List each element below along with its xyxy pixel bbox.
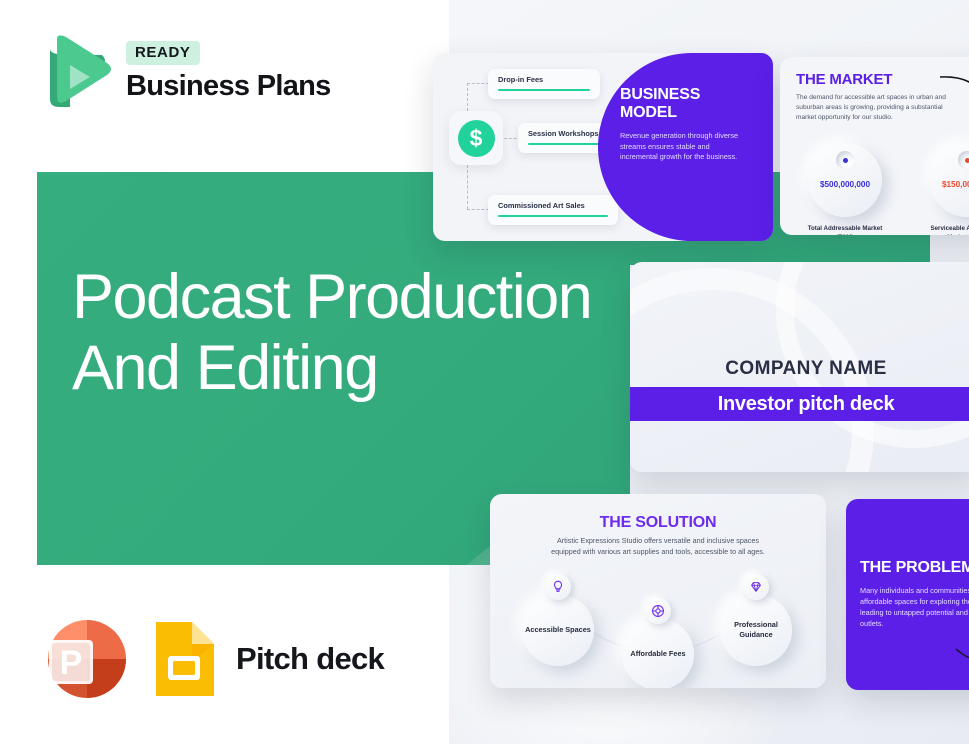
dollar-icon: $ xyxy=(449,111,503,165)
slide-solution[interactable]: THE SOLUTION Artistic Expressions Studio… xyxy=(490,494,826,688)
connector-line xyxy=(467,83,489,84)
revenue-stream-3-label: Commissioned Art Sales xyxy=(498,201,608,210)
brand-name: Business Plans xyxy=(126,70,331,103)
footer-label: Pitch deck xyxy=(236,641,384,677)
format-footer: P Pitch deck xyxy=(40,612,384,706)
problem-squiggle-icon xyxy=(954,645,969,675)
market-metric-2-caption: Serviceable Addressable Market (SAM) xyxy=(921,225,969,235)
slide-company-title[interactable]: COMPANY NAME Investor pitch deck xyxy=(630,262,969,472)
page-title: Podcast Production And Editing xyxy=(72,262,592,404)
solution-node-1-label: Accessible Spaces xyxy=(525,625,591,635)
lightbulb-icon xyxy=(545,574,571,600)
solution-node-3-label: Professional Guidance xyxy=(720,620,792,640)
revenue-stream-3: Commissioned Art Sales xyxy=(488,195,618,225)
powerpoint-icon: P xyxy=(40,612,134,706)
metric-dot-icon xyxy=(958,151,969,169)
business-model-description: Revenue generation through diverse strea… xyxy=(620,131,740,163)
business-model-title: BUSINESS MODEL xyxy=(620,86,759,122)
slide-business-model[interactable]: $ Drop-in Fees Session Workshops Commiss… xyxy=(433,53,773,241)
solution-node-2: Affordable Fees xyxy=(622,618,694,688)
market-metric-1: $500,000,000 xyxy=(808,143,882,217)
solution-title: THE SOLUTION xyxy=(490,514,826,532)
play-logo-icon xyxy=(40,33,112,111)
target-icon xyxy=(645,598,671,624)
metric-dot-icon xyxy=(836,151,854,169)
market-description: The demand for accessible art spaces in … xyxy=(796,93,948,123)
svg-text:P: P xyxy=(60,644,83,682)
curved-arrow-icon xyxy=(938,73,969,120)
slide-market[interactable]: THE MARKET The demand for accessible art… xyxy=(780,57,969,235)
slide-problem[interactable]: THE PROBLEM Many individuals and communi… xyxy=(846,499,969,690)
market-metric-2: $150,000,000 xyxy=(930,143,969,217)
connector-line xyxy=(467,209,489,210)
company-subtitle: Investor pitch deck xyxy=(718,393,895,416)
market-title: THE MARKET xyxy=(796,71,892,88)
solution-node-2-label: Affordable Fees xyxy=(630,649,685,659)
poster-canvas: READY Business Plans Podcast Production … xyxy=(0,0,969,744)
investor-pitch-band: Investor pitch deck xyxy=(630,387,969,421)
market-metric-1-caption: Total Addressable Market (TAM) xyxy=(799,225,891,235)
problem-title: THE PROBLEM xyxy=(860,559,969,577)
market-metric-2-value: $150,000,000 xyxy=(930,180,969,189)
ready-badge: READY xyxy=(126,41,200,65)
brand-logo[interactable]: READY Business Plans xyxy=(40,33,331,111)
problem-description: Many individuals and communities lack ac… xyxy=(860,585,969,629)
revenue-stream-1-label: Drop-in Fees xyxy=(498,75,590,84)
connector-line xyxy=(467,165,468,209)
solution-node-1: Accessible Spaces xyxy=(522,594,594,666)
diamond-icon xyxy=(743,574,769,600)
revenue-stream-1: Drop-in Fees xyxy=(488,69,600,99)
company-name: COMPANY NAME xyxy=(630,358,969,380)
business-model-panel: BUSINESS MODEL Revenue generation throug… xyxy=(598,53,773,241)
google-slides-icon xyxy=(152,618,218,700)
solution-description: Artistic Expressions Studio offers versa… xyxy=(548,536,768,557)
solution-node-3: Professional Guidance xyxy=(720,594,792,666)
market-metric-1-value: $500,000,000 xyxy=(808,180,882,189)
